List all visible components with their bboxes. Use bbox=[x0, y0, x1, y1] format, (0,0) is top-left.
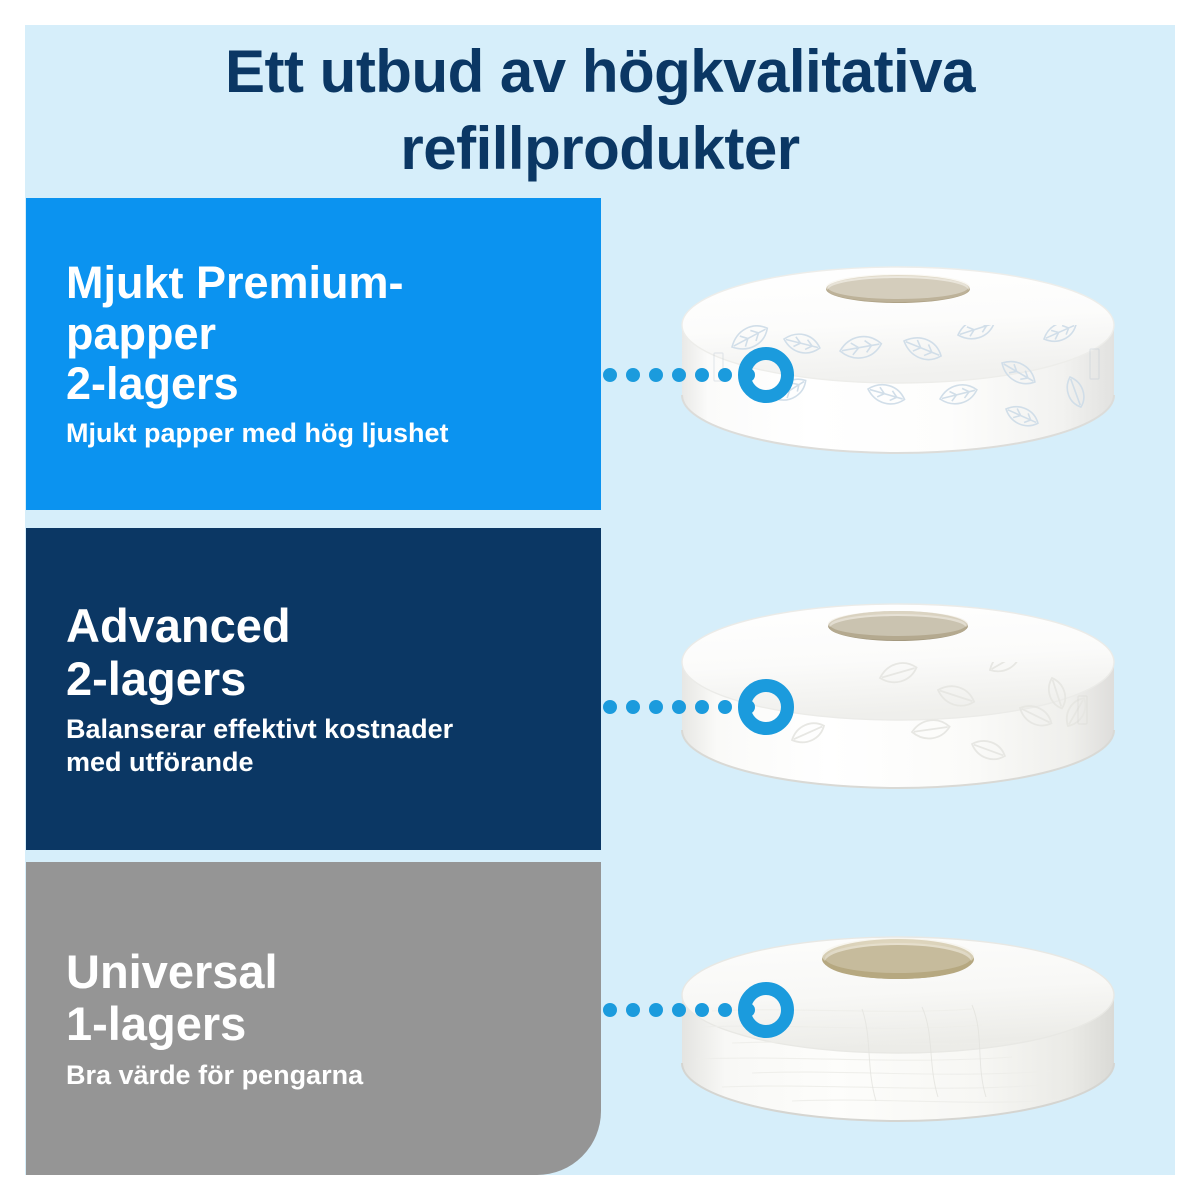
connector-dot bbox=[649, 368, 663, 382]
connector-dot bbox=[718, 1003, 732, 1017]
connector-dot bbox=[695, 368, 709, 382]
product-card-universal-subtitle: Bra värde för pengarna bbox=[66, 1059, 601, 1091]
title-line-1: Mjukt Premium- bbox=[66, 258, 601, 308]
connector-line-premium bbox=[603, 368, 753, 382]
title-line-2: 2-lagers bbox=[66, 653, 601, 706]
title-line-2: papper bbox=[66, 309, 601, 359]
connector-line-universal bbox=[603, 1003, 753, 1017]
jumbo-toilet-roll-universal bbox=[672, 915, 1124, 1147]
page-title-line-1: Ett utbud av högkvalitativa bbox=[120, 34, 1080, 111]
connector-dot bbox=[672, 700, 686, 714]
jumbo-toilet-roll-premium bbox=[672, 243, 1124, 475]
connector-dot bbox=[695, 700, 709, 714]
connector-dot bbox=[695, 1003, 709, 1017]
connector-line-advanced bbox=[603, 700, 753, 714]
product-card-advanced[interactable]: Advanced 2-lagers Balanserar effektivt k… bbox=[26, 528, 601, 850]
connector-dot bbox=[672, 1003, 686, 1017]
infographic-canvas: Ett utbud av högkvalitativa refillproduk… bbox=[0, 0, 1200, 1200]
subtitle-line-1: Mjukt papper med hög ljushet bbox=[66, 417, 601, 449]
subtitle-line-2: med utförande bbox=[66, 746, 601, 778]
connector-dot bbox=[603, 700, 617, 714]
connector-dot bbox=[603, 368, 617, 382]
subtitle-line-1: Bra värde för pengarna bbox=[66, 1059, 601, 1091]
product-card-advanced-title: Advanced 2-lagers bbox=[66, 600, 601, 705]
product-card-premium-subtitle: Mjukt papper med hög ljushet bbox=[66, 417, 601, 449]
product-card-premium-title: Mjukt Premium- papper 2-lagers bbox=[66, 258, 601, 409]
connector-dot bbox=[649, 700, 663, 714]
connector-dot bbox=[626, 368, 640, 382]
page-title-line-2: refillprodukter bbox=[120, 111, 1080, 188]
title-line-2: 1-lagers bbox=[66, 998, 601, 1051]
title-line-1: Universal bbox=[66, 946, 601, 999]
connector-dot bbox=[672, 368, 686, 382]
title-line-1: Advanced bbox=[66, 600, 601, 653]
connector-dot bbox=[603, 1003, 617, 1017]
product-card-advanced-subtitle: Balanserar effektivt kostnader med utför… bbox=[66, 713, 601, 778]
connector-dot bbox=[718, 700, 732, 714]
product-card-universal[interactable]: Universal 1-lagers Bra värde för pengarn… bbox=[26, 862, 601, 1175]
product-card-premium[interactable]: Mjukt Premium- papper 2-lagers Mjukt pap… bbox=[26, 198, 601, 510]
connector-dot bbox=[649, 1003, 663, 1017]
page-title: Ett utbud av högkvalitativa refillproduk… bbox=[120, 34, 1080, 188]
highlight-ring-advanced bbox=[738, 679, 794, 735]
connector-dot bbox=[626, 700, 640, 714]
connector-dot bbox=[626, 1003, 640, 1017]
connector-dot bbox=[718, 368, 732, 382]
title-line-3: 2-lagers bbox=[66, 359, 601, 409]
highlight-ring-premium bbox=[738, 347, 794, 403]
subtitle-line-1: Balanserar effektivt kostnader bbox=[66, 713, 601, 745]
product-card-universal-title: Universal 1-lagers bbox=[66, 946, 601, 1051]
highlight-ring-universal bbox=[738, 982, 794, 1038]
